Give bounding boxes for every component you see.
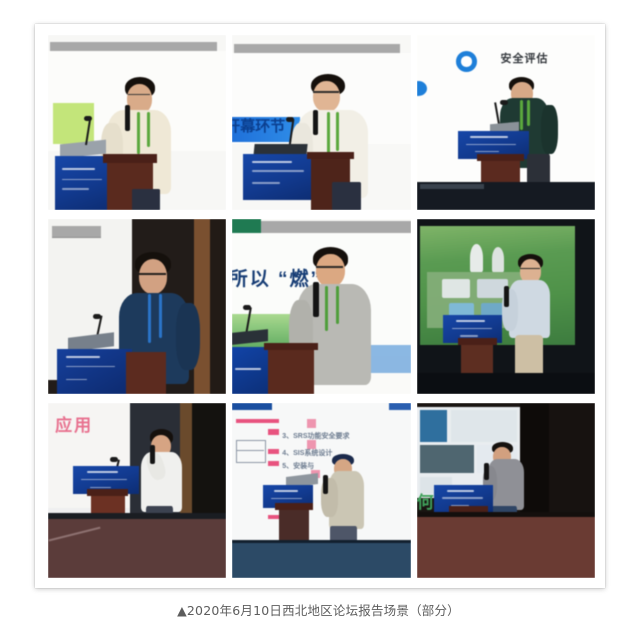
- photo-grid: 开幕环节: [48, 35, 595, 578]
- photo-cell-2[interactable]: 开幕环节: [232, 35, 410, 210]
- photo-cell-9[interactable]: 何: [417, 403, 595, 578]
- photo-collage-card: 开幕环节: [35, 24, 605, 588]
- slide-headline: 应用: [55, 417, 93, 434]
- slide-list-item-3: 4、SIS系统设计: [282, 450, 332, 457]
- photo-cell-3[interactable]: 安全评估: [417, 35, 595, 210]
- slide-headline: 安全评估: [500, 54, 548, 65]
- lanyard: [137, 112, 140, 154]
- photo-cell-6[interactable]: [417, 219, 595, 394]
- slide-list-item-2: 3、SRS功能安全要求: [282, 433, 349, 440]
- photo-cell-4[interactable]: [48, 219, 226, 394]
- figure-caption: ▲2020年6月10日西北地区论坛报告场景（部分）: [0, 600, 637, 619]
- photo-cell-1[interactable]: [48, 35, 226, 210]
- podium-banner: [55, 156, 110, 210]
- photo-cell-5[interactable]: 所以 “燃”: [232, 219, 410, 394]
- photo-cell-7[interactable]: 应用: [48, 403, 226, 578]
- slide-headline: 何: [417, 494, 434, 511]
- slide-headline: 开幕环节: [232, 119, 285, 134]
- glasses-icon: [313, 91, 340, 96]
- photo-cell-8[interactable]: 3、SRS功能安全要求 4、SIS系统设计 5、安装与: [232, 403, 410, 578]
- slide-list-item-4: 5、安装与: [282, 463, 314, 470]
